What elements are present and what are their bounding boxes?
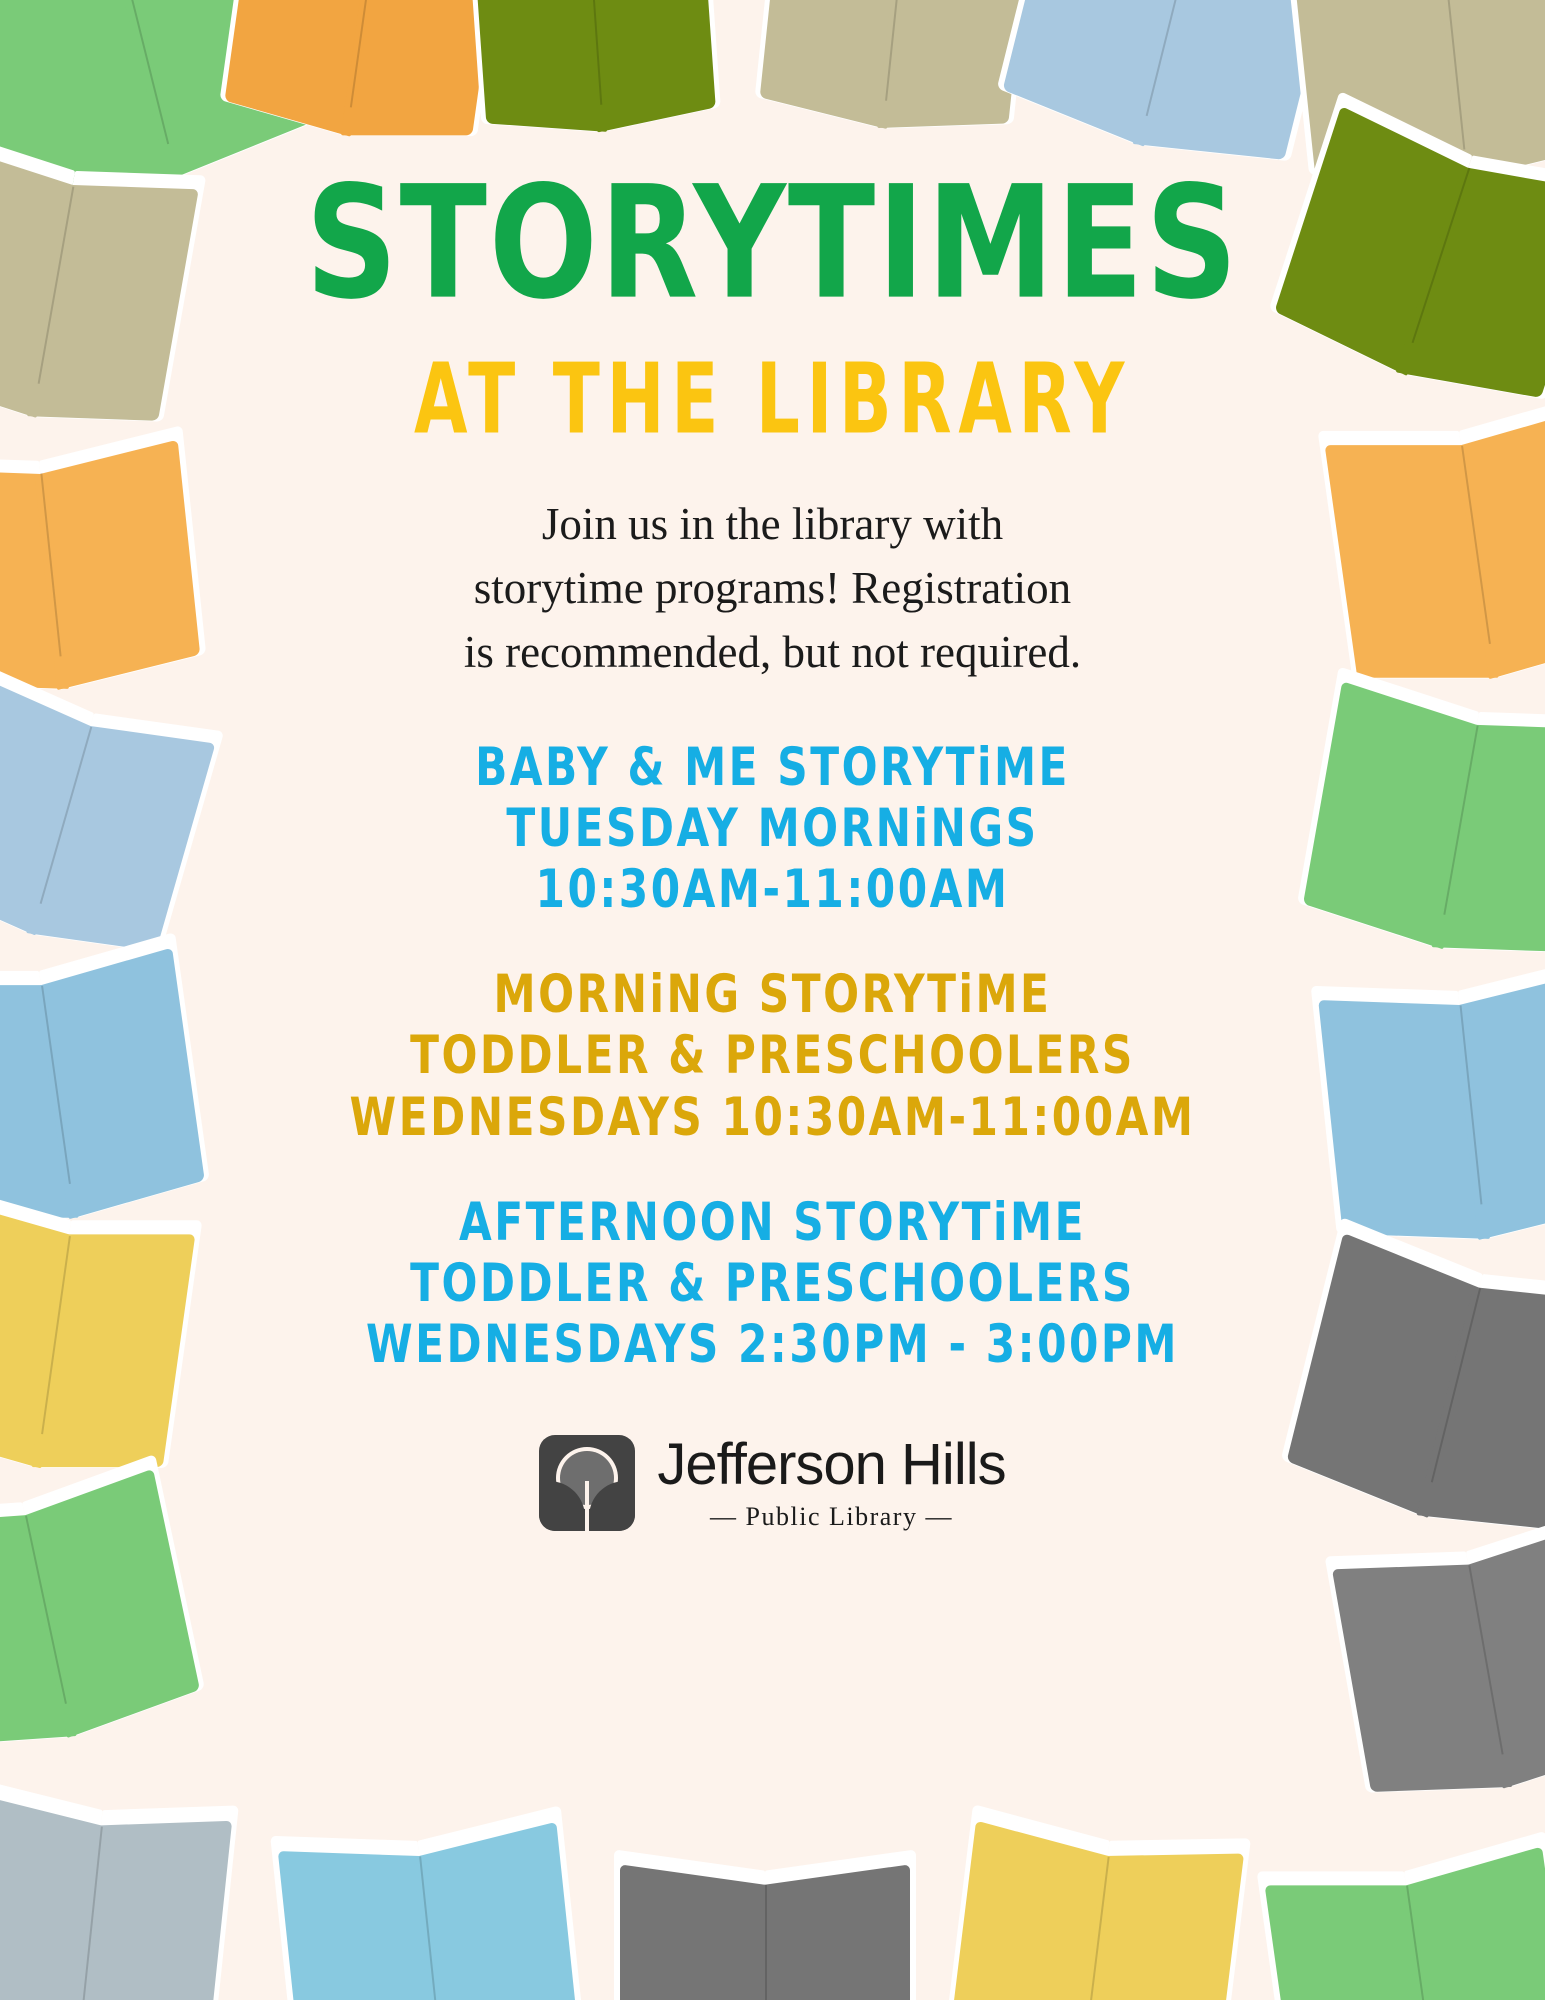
program-time: WEDNESDAYS 2:30PM - 3:00PM [366,1310,1179,1378]
open-book-logo-icon [539,1435,635,1531]
page-title: STORYTIMES [305,168,1239,321]
book-shape [539,1481,635,1531]
program-days: TUESDAY MORNiNGS [475,794,1070,862]
program-block-afternoon-storytime: AFTERNOON STORYTiME TODDLER & PRESCHOOLE… [366,1192,1179,1375]
program-time: WEDNESDAYS 10:30AM-11:00AM [350,1083,1196,1151]
decorative-book-darkgray-bottom [620,1860,910,2000]
poster-canvas: STORYTIMES AT THE LIBRARY Join us in the… [0,0,1545,2000]
page-subtitle: AT THE LIBRARY [414,351,1131,449]
decorative-book-skyblue-bottom [277,1816,583,2000]
library-logo: Jefferson Hills — Public Library — [539,1435,1005,1531]
program-block-morning-storytime: MORNiNG STORYTiME TODDLER & PRESCHOOLERS… [350,964,1196,1147]
logo-name: Jefferson Hills [657,1436,1005,1494]
intro-paragraph: Join us in the library with storytime pr… [464,493,1081,685]
program-audience: TODDLER & PRESCHOOLERS [350,1022,1196,1090]
decorative-book-green-bottomright [1264,1842,1545,2000]
poster-content: STORYTIMES AT THE LIBRARY Join us in the… [0,0,1545,1531]
logo-wordmark: Jefferson Hills — Public Library — [657,1436,1005,1530]
decorative-book-gray-bottomright [1331,1518,1545,1801]
intro-line-2: storytime programs! Registration [464,557,1081,621]
logo-tagline: — Public Library — [710,1504,953,1530]
program-name: MORNiNG STORYTiME [350,961,1196,1029]
intro-line-3: is recommended, but not required. [464,621,1081,685]
program-block-baby-and-me: BABY & ME STORYTiME TUESDAY MORNiNGS 10:… [475,737,1070,920]
decorative-book-graysteel-bottom [0,1787,233,2000]
program-time: 10:30AM-11:00AM [475,856,1070,924]
program-name: AFTERNOON STORYTiME [366,1188,1179,1256]
intro-line-1: Join us in the library with [464,493,1081,557]
program-name: BABY & ME STORYTiME [475,733,1070,801]
decorative-book-yellow-bottom [945,1815,1245,2000]
program-audience: TODDLER & PRESCHOOLERS [366,1249,1179,1317]
program-list: BABY & ME STORYTiME TUESDAY MORNiNGS 10:… [0,737,1545,1419]
